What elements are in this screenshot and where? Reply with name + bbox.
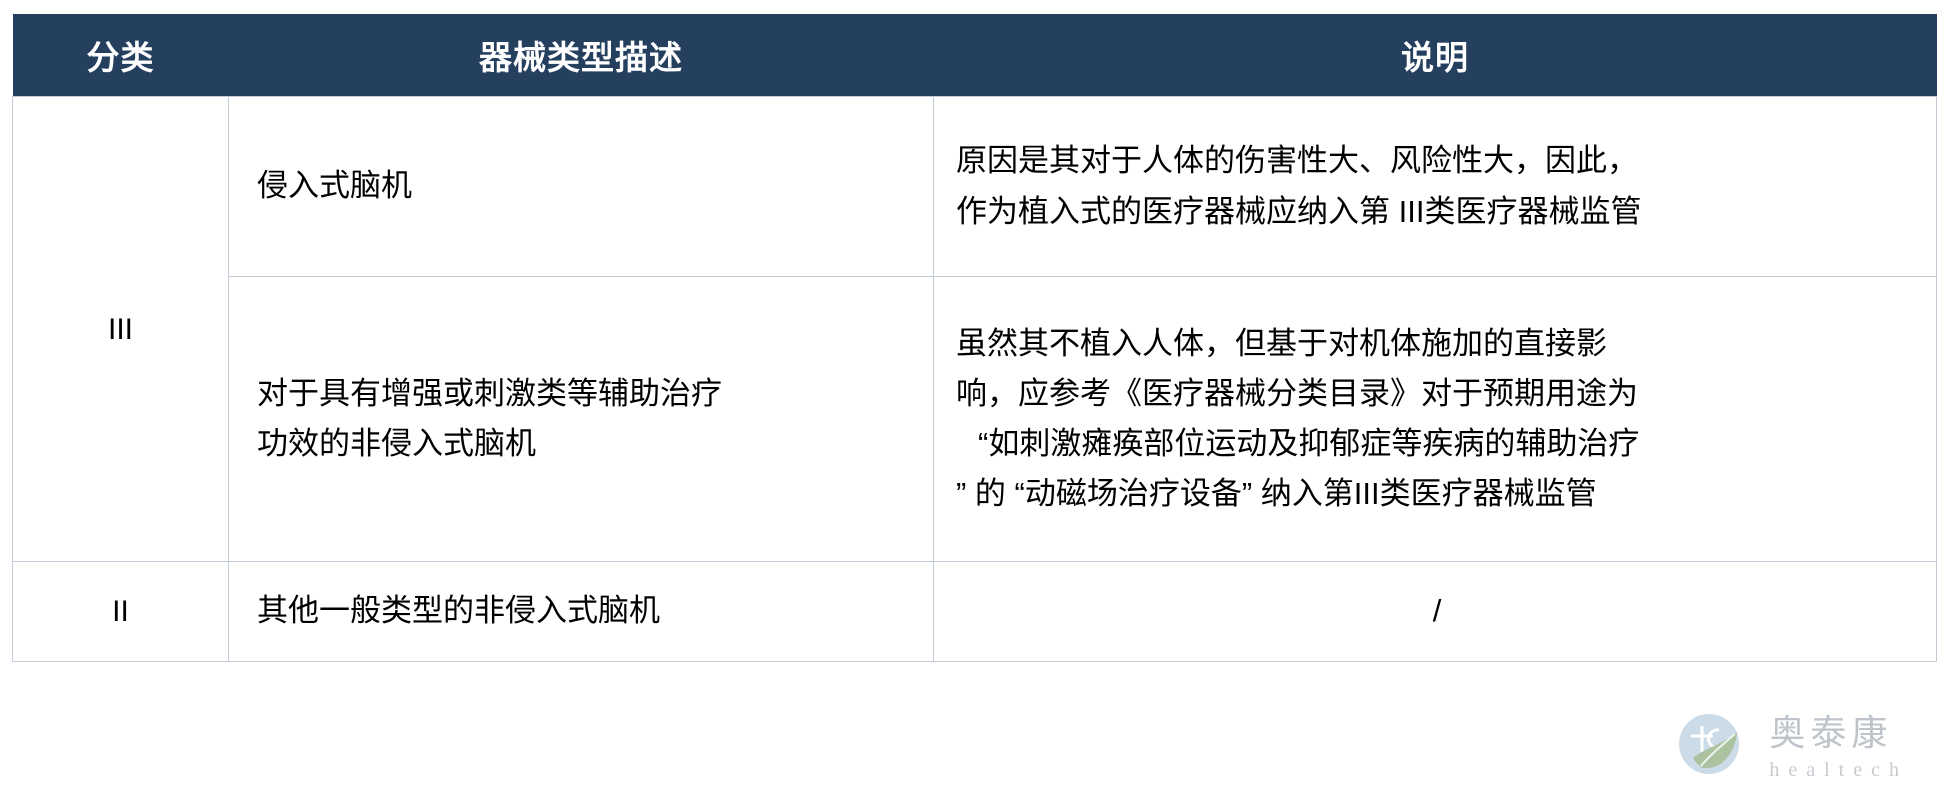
header-row: 分类 器械类型描述 说明 <box>13 14 1937 97</box>
table-header: 分类 器械类型描述 说明 <box>13 14 1937 97</box>
note-body: 虽然其不植入人体，但基于对机体施加的直接影 响，应参考《医疗器械分类目录》对于预… <box>956 319 1918 520</box>
column-header-description: 器械类型描述 <box>229 14 934 97</box>
column-header-class: 分类 <box>13 14 229 97</box>
note-body: 原因是其对于人体的伤害性大、风险性大，因此， 作为植入式的医疗器械应纳入第 II… <box>956 136 1918 236</box>
description-line: 其他一般类型的非侵入式脑机 <box>257 586 933 636</box>
table-row: 对于具有增强或刺激类等辅助治疗 功效的非侵入式脑机 虽然其不植入人体，但基于对机… <box>13 277 1937 562</box>
cell-description: 对于具有增强或刺激类等辅助治疗 功效的非侵入式脑机 <box>229 277 934 562</box>
note-line: ” 的 “动磁场治疗设备” 纳入第III类医疗器械监管 <box>956 469 1918 519</box>
note-line: 响，应参考《医疗器械分类目录》对于预期用途为 <box>956 369 1918 419</box>
watermark-logo: 奥泰康 healtech <box>1671 706 1908 788</box>
table-page: 分类 器械类型描述 说明 III 侵入式脑机 原因是其对于人体的伤害性大、风险性… <box>0 0 1948 810</box>
device-classification-table-wrap: 分类 器械类型描述 说明 III 侵入式脑机 原因是其对于人体的伤害性大、风险性… <box>12 14 1936 662</box>
watermark-brand-cn: 奥泰康 <box>1769 715 1908 751</box>
cell-class-ii: II <box>13 562 229 662</box>
note-line: “如刺激瘫痪部位运动及抑郁症等疾病的辅助治疗 <box>956 419 1918 469</box>
cell-class-iii: III <box>13 97 229 562</box>
leaf-globe-icon <box>1671 706 1753 788</box>
note-line: 作为植入式的医疗器械应纳入第 III类医疗器械监管 <box>956 187 1918 237</box>
description-line: 对于具有增强或刺激类等辅助治疗 <box>257 369 933 419</box>
cell-note: 原因是其对于人体的伤害性大、风险性大，因此， 作为植入式的医疗器械应纳入第 II… <box>934 97 1937 277</box>
cell-description: 其他一般类型的非侵入式脑机 <box>229 562 934 662</box>
table-row: II 其他一般类型的非侵入式脑机 / <box>13 562 1937 662</box>
note-line: 虽然其不植入人体，但基于对机体施加的直接影 <box>956 319 1918 369</box>
device-classification-table: 分类 器械类型描述 说明 III 侵入式脑机 原因是其对于人体的伤害性大、风险性… <box>12 14 1937 662</box>
cell-note: / <box>934 562 1937 662</box>
table-body: III 侵入式脑机 原因是其对于人体的伤害性大、风险性大，因此， 作为植入式的医… <box>13 97 1937 662</box>
cell-description: 侵入式脑机 <box>229 97 934 277</box>
description-line: 侵入式脑机 <box>257 161 933 211</box>
cell-note: 虽然其不植入人体，但基于对机体施加的直接影 响，应参考《医疗器械分类目录》对于预… <box>934 277 1937 562</box>
watermark-brand-en: healtech <box>1769 760 1908 780</box>
note-line: 原因是其对于人体的伤害性大、风险性大，因此， <box>956 136 1918 186</box>
description-line: 功效的非侵入式脑机 <box>257 419 933 469</box>
column-header-note: 说明 <box>934 14 1937 97</box>
table-row: III 侵入式脑机 原因是其对于人体的伤害性大、风险性大，因此， 作为植入式的医… <box>13 97 1937 277</box>
watermark-text: 奥泰康 healtech <box>1769 715 1908 780</box>
